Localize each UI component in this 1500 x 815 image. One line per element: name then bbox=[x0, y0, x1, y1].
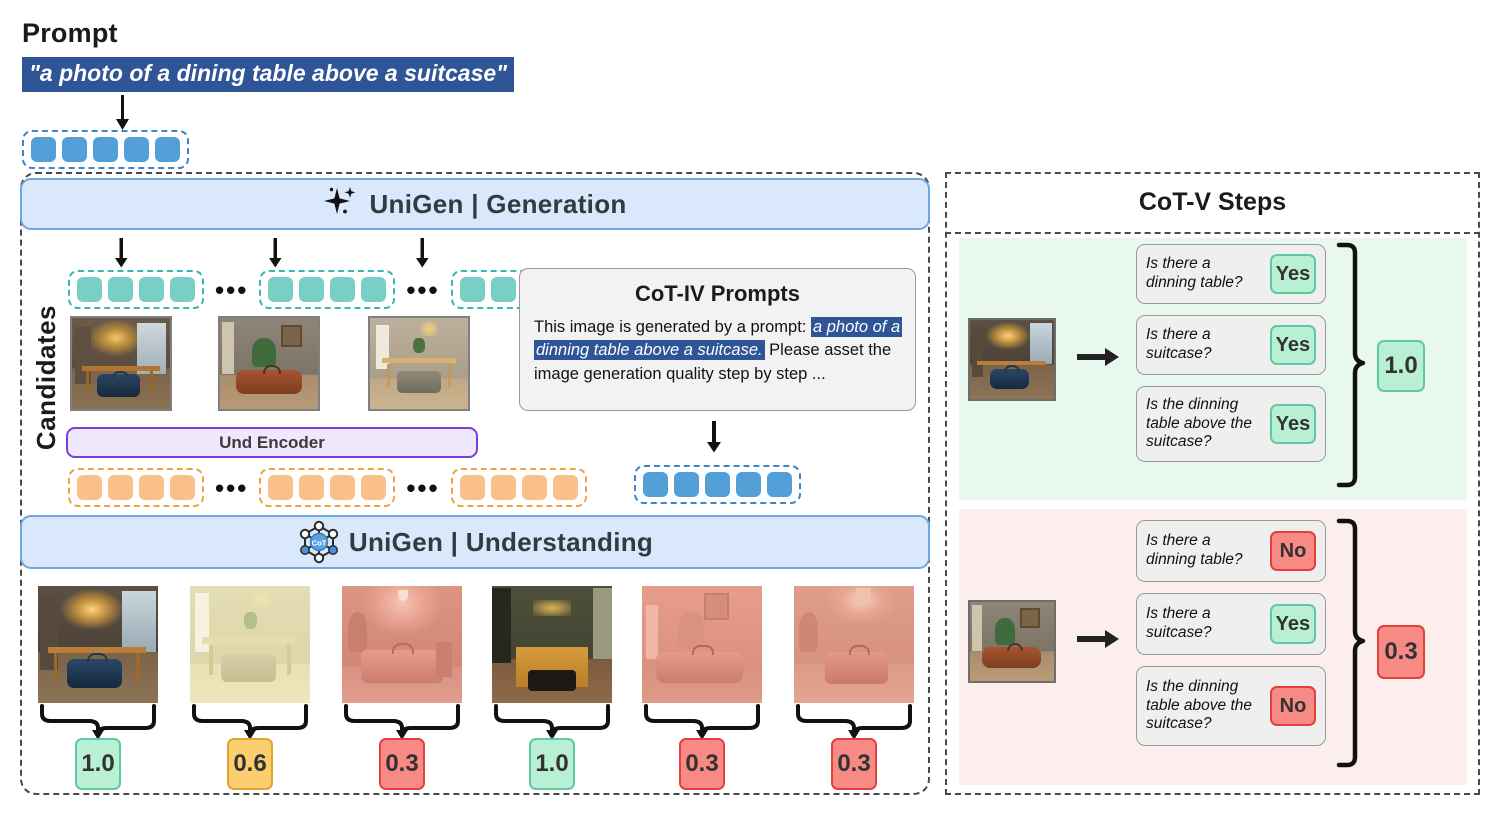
token-chip bbox=[674, 472, 699, 497]
encoded-token-rows: ••• ••• bbox=[68, 468, 587, 507]
brace-5 bbox=[642, 704, 762, 742]
token-chip bbox=[491, 475, 516, 500]
page-title: Prompt bbox=[22, 18, 118, 49]
cotv-thumb-1 bbox=[968, 318, 1056, 401]
question-text: Is there a suitcase? bbox=[1146, 605, 1264, 643]
score-badge-6: 0.3 bbox=[831, 738, 877, 790]
sparkle-icon bbox=[323, 186, 361, 222]
down-arrow-icon bbox=[111, 238, 131, 268]
cotv-header: CoT-V Steps bbox=[945, 172, 1480, 234]
right-arrow-icon bbox=[1077, 346, 1121, 368]
cotiv-body: This image is generated by a prompt: a p… bbox=[534, 316, 901, 386]
down-arrow-icon bbox=[703, 421, 725, 453]
score-badge-1: 1.0 bbox=[75, 738, 121, 790]
token-chip bbox=[330, 475, 355, 500]
score-badge-3: 0.3 bbox=[379, 738, 425, 790]
candidate-image-3 bbox=[368, 316, 470, 411]
token-group bbox=[22, 130, 189, 169]
cotv-title: CoT-V Steps bbox=[1139, 188, 1286, 217]
brace-cotv-1 bbox=[1337, 242, 1369, 490]
token-chip bbox=[155, 137, 180, 162]
token-chip bbox=[705, 472, 730, 497]
question-item: Is there a dinning table? Yes bbox=[1136, 244, 1326, 304]
token-chip bbox=[268, 475, 293, 500]
token-chip bbox=[767, 472, 792, 497]
candidates-label: Candidates bbox=[31, 305, 62, 450]
result-image-6 bbox=[794, 586, 914, 703]
question-text: Is there a suitcase? bbox=[1146, 326, 1264, 364]
ellipsis: ••• bbox=[406, 285, 439, 295]
question-text: Is the dinning table above the suitcase? bbox=[1146, 678, 1264, 735]
answer-badge: Yes bbox=[1270, 325, 1316, 365]
right-arrow-icon bbox=[1077, 628, 1121, 650]
token-chip bbox=[491, 277, 516, 302]
svg-text:CoT: CoT bbox=[312, 538, 327, 547]
cotiv-prompts-box: CoT-IV Prompts This image is generated b… bbox=[519, 268, 916, 411]
token-group bbox=[451, 468, 587, 507]
token-chip bbox=[361, 277, 386, 302]
brace-6 bbox=[794, 704, 914, 742]
result-image-3 bbox=[342, 586, 462, 703]
cotv-question-list-2: Is there a dinning table? No Is there a … bbox=[1136, 520, 1326, 746]
prompt-text: "a photo of a dining table above a suitc… bbox=[22, 57, 514, 92]
cot-molecule-icon: CoT bbox=[297, 520, 341, 564]
answer-badge: No bbox=[1270, 686, 1316, 726]
token-chip bbox=[522, 475, 547, 500]
question-item: Is there a suitcase? Yes bbox=[1136, 315, 1326, 375]
down-arrow-icon bbox=[412, 238, 432, 268]
question-item: Is there a suitcase? Yes bbox=[1136, 593, 1326, 655]
und-encoder-block: Und Encoder bbox=[66, 427, 478, 458]
cotv-score-2: 0.3 bbox=[1377, 625, 1425, 679]
token-chip bbox=[643, 472, 668, 497]
ellipsis: ••• bbox=[406, 483, 439, 493]
unigen-generation-label: UniGen | Generation bbox=[369, 189, 626, 220]
candidate-image-2 bbox=[218, 316, 320, 411]
cotiv-body-before: This image is generated by a prompt: bbox=[534, 318, 811, 336]
brace-3 bbox=[342, 704, 462, 742]
prompt-token-row bbox=[22, 130, 189, 169]
brace-2 bbox=[190, 704, 310, 742]
answer-badge: Yes bbox=[1270, 404, 1316, 444]
token-chip bbox=[31, 137, 56, 162]
down-arrow-icon bbox=[265, 238, 285, 268]
token-chip bbox=[170, 277, 195, 302]
token-chip bbox=[170, 475, 195, 500]
und-encoder-label: Und Encoder bbox=[219, 433, 325, 453]
token-chip bbox=[108, 475, 133, 500]
ellipsis: ••• bbox=[215, 285, 248, 295]
token-chip bbox=[268, 277, 293, 302]
unigen-understanding-banner: CoT UniGen | Understanding bbox=[20, 515, 930, 569]
token-group bbox=[68, 468, 204, 507]
unigen-understanding-label: UniGen | Understanding bbox=[349, 527, 653, 558]
result-image-2 bbox=[190, 586, 310, 703]
score-badge-2: 0.6 bbox=[227, 738, 273, 790]
token-chip bbox=[330, 277, 355, 302]
brace-1 bbox=[38, 704, 158, 742]
cotiv-token-row bbox=[634, 465, 801, 504]
answer-badge: Yes bbox=[1270, 604, 1316, 644]
token-group bbox=[259, 270, 395, 309]
token-chip bbox=[124, 137, 149, 162]
result-image-5 bbox=[642, 586, 762, 703]
cotv-thumb-2 bbox=[968, 600, 1056, 683]
token-chip bbox=[361, 475, 386, 500]
token-chip bbox=[460, 277, 485, 302]
result-image-4 bbox=[492, 586, 612, 703]
token-chip bbox=[139, 475, 164, 500]
answer-badge: Yes bbox=[1270, 254, 1316, 294]
token-chip bbox=[62, 137, 87, 162]
token-chip bbox=[299, 475, 324, 500]
token-group bbox=[68, 270, 204, 309]
brace-4 bbox=[492, 704, 612, 742]
token-group bbox=[259, 468, 395, 507]
candidate-token-rows: ••• ••• bbox=[68, 270, 587, 309]
unigen-generation-banner: UniGen | Generation bbox=[20, 178, 930, 230]
score-badge-5: 0.3 bbox=[679, 738, 725, 790]
question-text: Is there a dinning table? bbox=[1146, 532, 1264, 570]
cotv-question-list-1: Is there a dinning table? Yes Is there a… bbox=[1136, 244, 1326, 462]
token-chip bbox=[736, 472, 761, 497]
score-badge-4: 1.0 bbox=[529, 738, 575, 790]
question-text: Is the dinning table above the suitcase? bbox=[1146, 396, 1264, 453]
brace-cotv-2 bbox=[1337, 518, 1369, 770]
token-chip bbox=[108, 277, 133, 302]
result-image-1 bbox=[38, 586, 158, 703]
token-chip bbox=[77, 475, 102, 500]
token-chip bbox=[299, 277, 324, 302]
ellipsis: ••• bbox=[215, 483, 248, 493]
token-chip bbox=[460, 475, 485, 500]
down-arrow-icon bbox=[110, 95, 134, 131]
question-item: Is the dinning table above the suitcase?… bbox=[1136, 666, 1326, 746]
question-item: Is there a dinning table? No bbox=[1136, 520, 1326, 582]
token-chip bbox=[553, 475, 578, 500]
token-chip bbox=[93, 137, 118, 162]
cotv-score-1: 1.0 bbox=[1377, 340, 1425, 392]
answer-badge: No bbox=[1270, 531, 1316, 571]
token-chip bbox=[139, 277, 164, 302]
token-group bbox=[634, 465, 801, 504]
question-text: Is there a dinning table? bbox=[1146, 255, 1264, 293]
cotiv-title: CoT-IV Prompts bbox=[534, 281, 901, 307]
question-item: Is the dinning table above the suitcase?… bbox=[1136, 386, 1326, 462]
token-chip bbox=[77, 277, 102, 302]
candidate-image-1 bbox=[70, 316, 172, 411]
